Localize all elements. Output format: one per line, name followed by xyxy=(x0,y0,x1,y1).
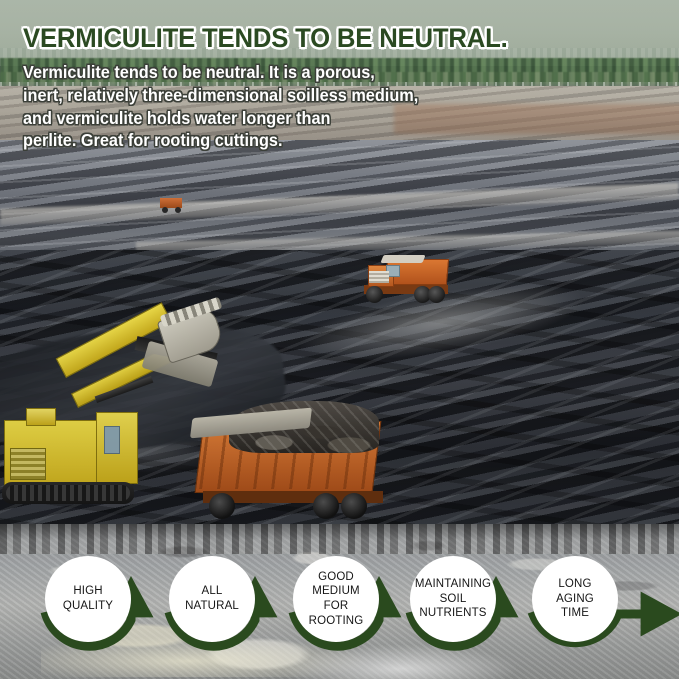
flow-node-good-medium[interactable]: GOODMEDIUMFORROOTING xyxy=(293,556,379,642)
haul-truck-icon xyxy=(356,253,448,305)
dump-truck-icon xyxy=(185,395,400,524)
description-paragraph: Vermiculite tends to be neutral. It is a… xyxy=(23,61,600,152)
flow-node-label: LONGAGINGTIME xyxy=(556,577,594,621)
flow-node-label: MAINTAININGSOILNUTRIENTS xyxy=(415,577,491,621)
flow-node-high-quality[interactable]: HIGHQUALITY xyxy=(45,556,131,642)
flow-node-label: HIGHQUALITY xyxy=(63,584,113,613)
flow-node-soil-nutrients[interactable]: MAINTAININGSOILNUTRIENTS xyxy=(410,556,496,642)
flow-node-long-aging-time[interactable]: LONGAGINGTIME xyxy=(532,556,618,642)
flow-node-all-natural[interactable]: ALLNATURAL xyxy=(169,556,255,642)
description-line: perlite. Great for rooting cuttings. xyxy=(23,129,600,152)
distant-haul-truck-icon xyxy=(160,198,185,214)
flow-node-label: GOODMEDIUMFORROOTING xyxy=(309,570,364,629)
description-line: and vermiculite holds water longer than xyxy=(23,107,600,130)
page-title: VERMICULITE TENDS TO BE NEUTRAL. xyxy=(23,24,624,52)
flow-node-label: ALLNATURAL xyxy=(185,584,239,613)
benefits-flow-section: HIGHQUALITY ALLNATURAL GOODMEDIUMFORROOT… xyxy=(0,524,679,679)
infographic-page: VERMICULITE TENDS TO BE NEUTRAL. Vermicu… xyxy=(0,0,679,679)
text-block: VERMICULITE TENDS TO BE NEUTRAL. Vermicu… xyxy=(23,24,643,152)
description-line: Vermiculite tends to be neutral. It is a… xyxy=(23,61,600,84)
description-line: inert, relatively three-dimensional soil… xyxy=(23,84,600,107)
